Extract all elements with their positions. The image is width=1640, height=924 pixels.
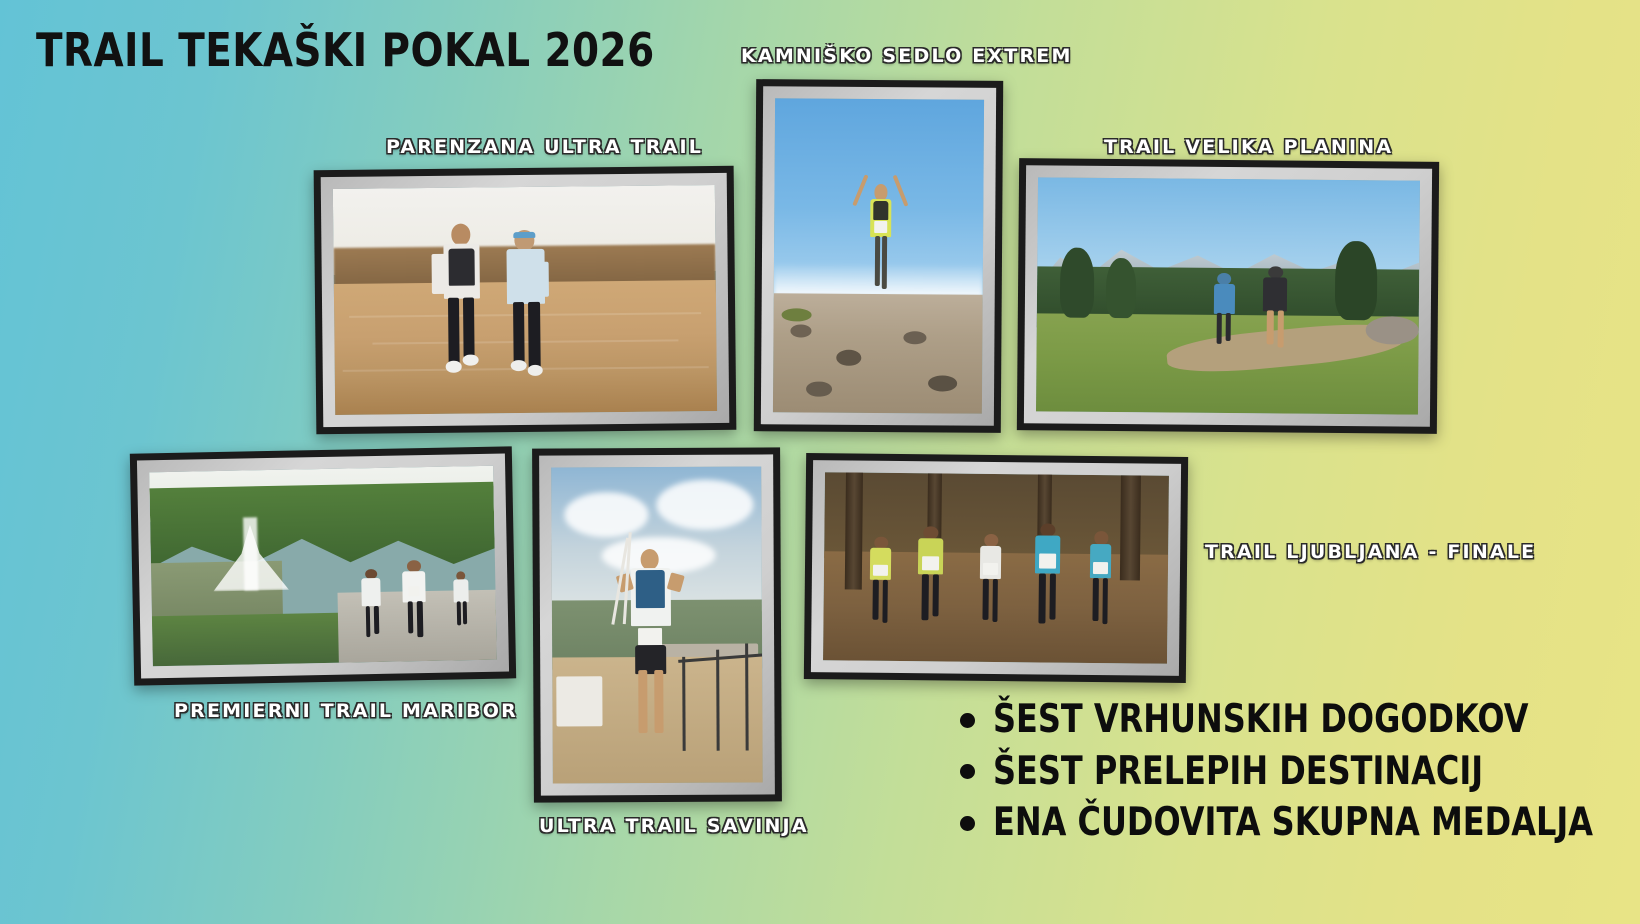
page-title: TRAIL TEKAŠKI POKAL 2026 [36,27,655,73]
runner-arm-raised [852,175,868,207]
runner-leg [1039,573,1046,623]
runner-figure [494,230,561,391]
caption-velika-planina: TRAIL VELIKA PLANINA [1104,136,1393,158]
runner-head [1094,531,1108,544]
photo-savinja [551,466,763,783]
bullet-icon [960,713,975,728]
photo-mat [539,454,775,795]
photo-maribor [149,466,497,667]
runner-leg [881,236,886,289]
photo-mat [1024,165,1432,427]
building-white [556,676,602,727]
runner-leg [528,302,540,368]
bullet-icon [960,816,975,831]
runner-figure [1208,272,1239,347]
runner-figure [1030,523,1066,632]
list-item: ŠEST VRHUNSKIH DOGODKOV [960,700,1600,741]
photo-kamnisko [773,98,984,413]
photo-frame-maribor[interactable] [130,446,516,685]
runner-torso [1263,278,1287,312]
runner-leg [992,579,998,622]
runner-figure [450,571,472,630]
runner-leg [1049,574,1056,620]
runner-shoe [446,361,462,373]
cloud [564,492,648,537]
rock [903,332,926,345]
photo-frame-savinja[interactable] [532,447,782,802]
photo-mat [321,173,730,427]
runner-torso [453,580,468,602]
photo-mat [811,460,1181,676]
runner-leg [882,580,888,623]
runner-arm [432,254,447,294]
runner-leg [407,601,413,634]
benefits-list: ŠEST VRHUNSKIH DOGODKOV ŠEST PRELEPIH DE… [960,700,1600,855]
benefit-label: ŠEST VRHUNSKIH DOGODKOV [993,700,1528,741]
runner-head [451,224,471,246]
runner-leg [457,601,461,626]
runner-vest [873,201,888,220]
runner-bib [874,221,887,234]
runner-shoe [511,360,527,371]
runner-arm [533,262,549,297]
rock [928,376,957,392]
grass-patch [782,309,811,322]
fountain-jet [243,517,258,591]
runner-leg [1102,578,1108,624]
runner-bib [922,556,939,570]
caption-parenzana: PARENZANA ULTRA TRAIL [386,136,703,158]
runner-leg [1267,311,1273,345]
runner-headband [513,231,535,238]
rock-outcrop [1365,316,1419,345]
photo-frame-ljubljana[interactable] [804,453,1188,683]
tree-trunk [1120,475,1142,580]
bullet-icon [960,764,975,779]
runner-leg [365,606,371,637]
runner-leg [654,670,664,733]
photo-velika-planina [1036,177,1420,414]
caption-savinja: ULTRA TRAIL SAVINJA [539,815,809,837]
photo-mat [761,86,996,426]
runner-torso [361,578,381,606]
runner-arm-raised [893,175,909,207]
runner-figure [1258,266,1293,351]
runner-leg [873,580,879,620]
runner-figure [399,560,432,642]
runner-leg [638,670,648,733]
railing [716,650,720,751]
runner-vest [448,249,474,286]
runner-head [640,549,659,570]
runner-leg [983,579,989,620]
caption-ljubljana: TRAIL LJUBLJANA - FINALE [1205,541,1536,563]
runner-figure [357,569,386,643]
tree [1060,248,1095,318]
runner-figure [853,174,908,300]
photo-frame-velika-planina[interactable] [1017,158,1439,434]
runner-leg [448,297,460,364]
runner-figure [975,534,1007,632]
runner-figure [1085,531,1117,633]
cloud [656,479,753,530]
runner-figure [429,223,496,391]
photo-frame-kamnisko[interactable] [754,79,1003,433]
runner-leg [417,601,423,637]
runner-vest [636,570,665,608]
benefit-label: ENA ČUDOVITA SKUPNA MEDALJA [993,803,1593,844]
caption-maribor: PREMIERNI TRAIL MARIBOR [174,700,518,722]
runner-leg [374,606,379,634]
rock [836,350,861,366]
runner-bib [1039,554,1056,568]
runner-leg [463,297,475,357]
benefit-label: ŠEST PRELEPIH DESTINACIJ [993,752,1483,793]
runner-figure [615,549,687,758]
runner-figure [865,537,897,631]
runner-leg [1093,578,1099,621]
photo-frame-parenzana[interactable] [314,166,737,434]
runner-bib [873,565,887,576]
runner-leg [875,236,880,286]
railing [745,643,749,750]
runner-head [874,184,887,200]
tree [1335,241,1378,321]
tree [1106,257,1137,318]
list-item: ŠEST PRELEPIH DESTINACIJ [960,752,1600,793]
runner-leg [513,302,525,363]
runner-leg [1216,313,1222,344]
list-item: ENA ČUDOVITA SKUPNA MEDALJA [960,803,1600,844]
runner-bib [408,586,419,596]
tree-trunk [844,472,862,589]
runner-leg [463,601,467,624]
runner-bib [983,563,997,575]
runner-leg [932,574,939,616]
photo-ljubljana [823,472,1169,664]
runner-leg [1277,311,1284,348]
photo-mat [137,453,509,678]
runner-head [1218,273,1232,285]
caption-kamnisko: KAMNIŠKO SEDLO EXTREM [741,45,1073,67]
rock [806,381,831,397]
runner-torso [1214,284,1235,314]
runner-leg [922,574,929,620]
rock [790,324,811,337]
runner-shoe [528,365,544,376]
photo-parenzana [333,185,717,415]
runner-bib [1093,562,1107,574]
runner-shoe [463,354,479,366]
runner-figure [913,526,948,632]
runner-leg [1226,313,1232,341]
runner-arm [667,572,685,592]
